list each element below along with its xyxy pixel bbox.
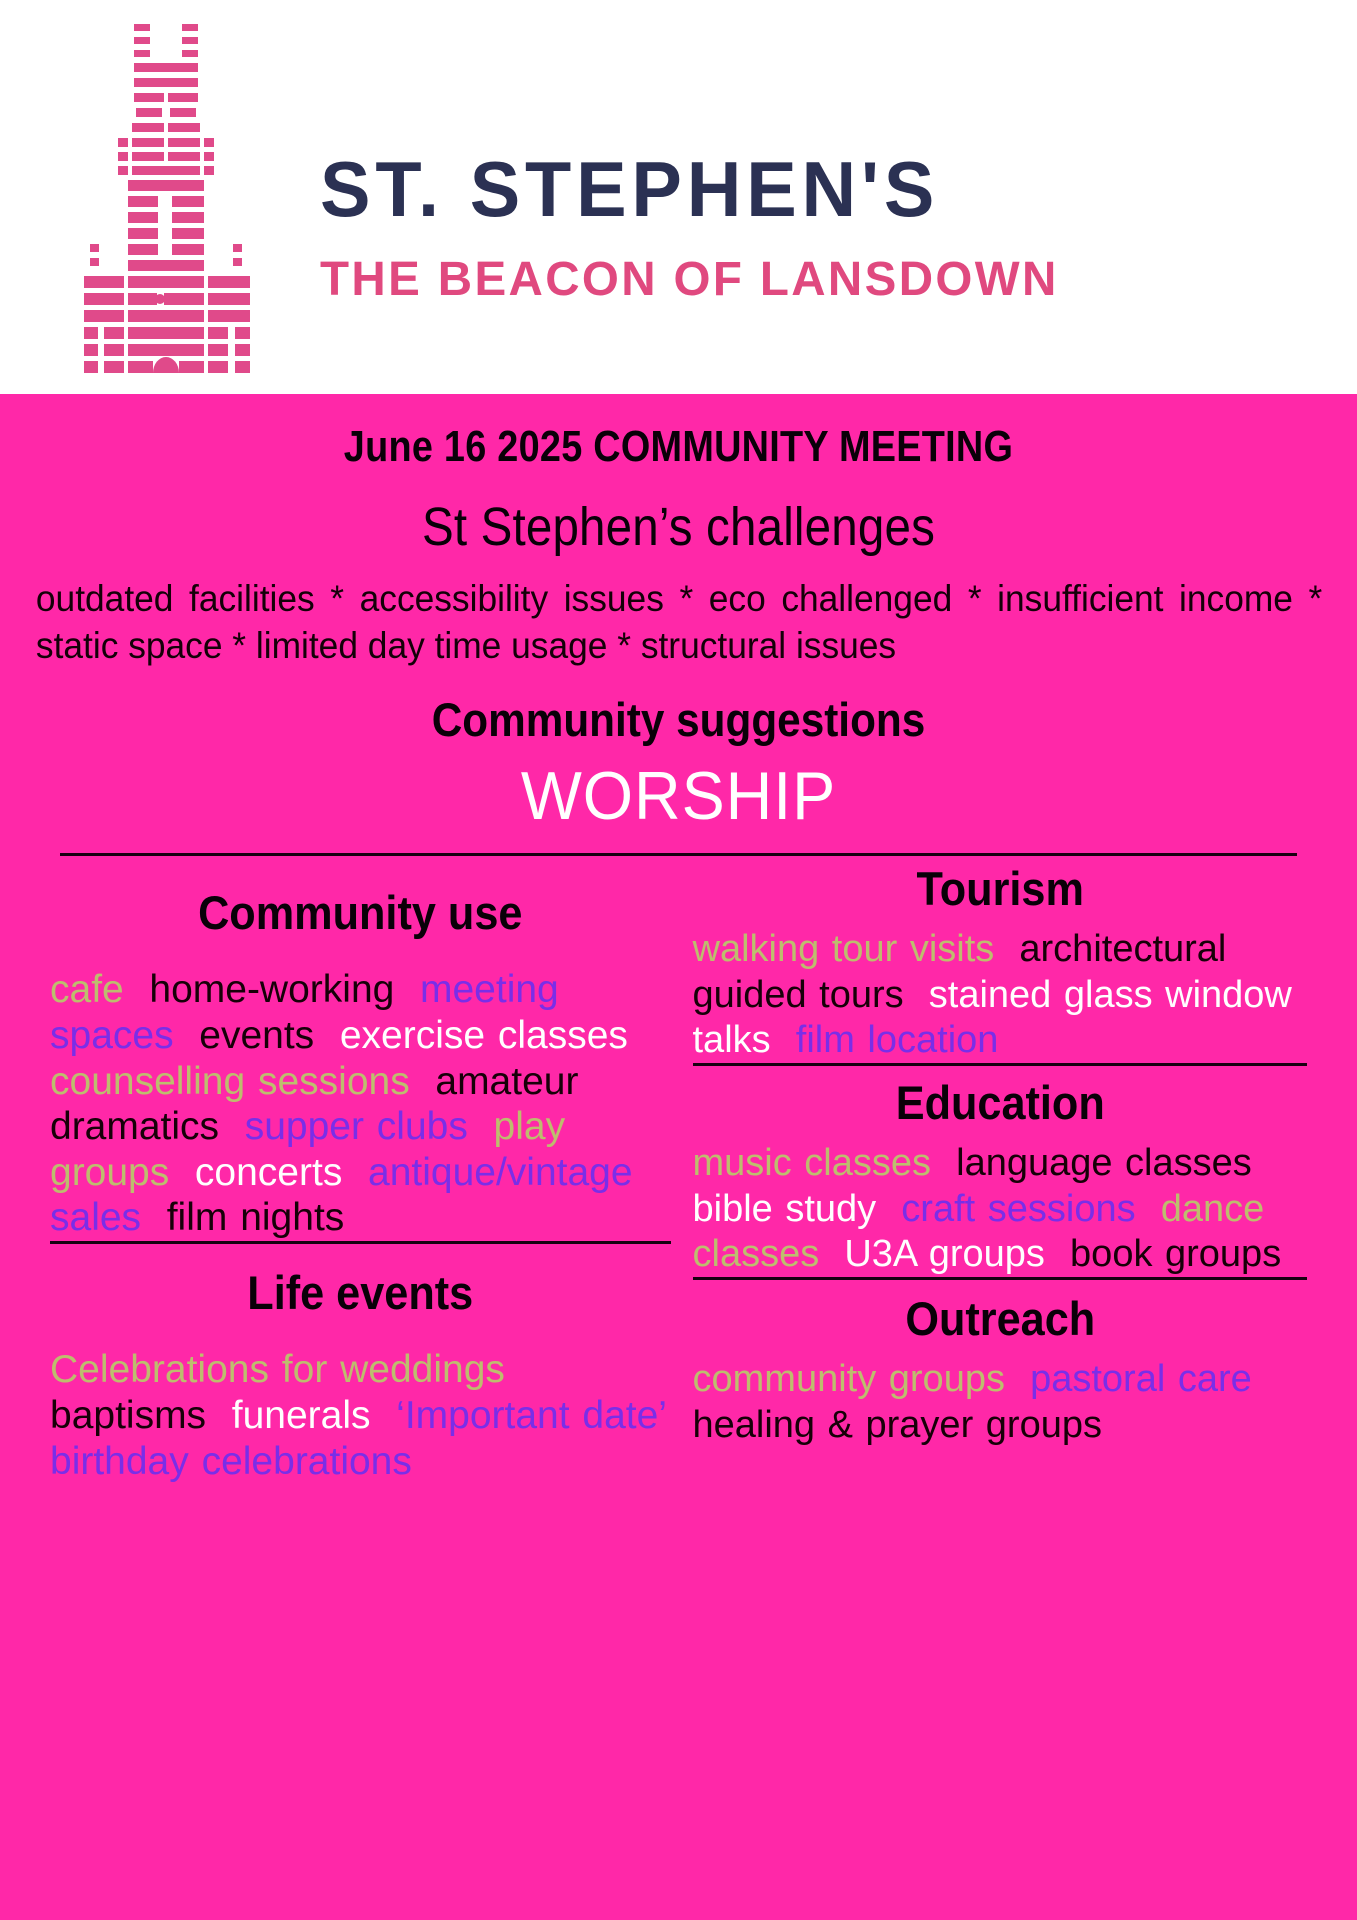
word-chip: cafe [50, 968, 124, 1011]
word-chip: pastoral care [1030, 1358, 1252, 1400]
suggestions-title: Community suggestions [98, 692, 1258, 747]
word-list-community-use: cafe home-working meeting spaces events … [50, 967, 671, 1241]
church-tower-icon [78, 18, 256, 378]
word-chip: home-working [149, 968, 394, 1011]
word-chip: walking tour visits [693, 928, 995, 970]
divider-top [60, 853, 1297, 856]
divider-left [50, 1241, 671, 1244]
word-chip: language classes [956, 1142, 1252, 1184]
word-list-education: music classes language classes bible stu… [693, 1141, 1308, 1277]
word-chip: bible study [693, 1188, 877, 1230]
challenges-body: outdated facilities * accessibility issu… [34, 576, 1324, 670]
brand-title: ST. STEPHEN'S [320, 150, 1300, 228]
divider-right-1 [693, 1063, 1308, 1066]
word-chip: film location [796, 1019, 999, 1061]
word-chip: music classes [693, 1142, 932, 1184]
worship-heading: WORSHIP [66, 757, 1291, 835]
brand-wordmark: ST. STEPHEN'S THE BEACON OF LANSDOWN [320, 150, 1330, 304]
poster-body: June 16 2025 COMMUNITY MEETING St Stephe… [0, 394, 1357, 1920]
word-chip: Celebrations for weddings [50, 1348, 505, 1391]
word-chip: craft sessions [901, 1188, 1135, 1230]
word-chip: exercise classes [340, 1014, 628, 1057]
columns-wrapper: Community use cafe home-working meeting … [34, 864, 1323, 1484]
word-chip: funerals [232, 1394, 371, 1437]
divider-right-2 [693, 1277, 1308, 1280]
section-heading-community-use: Community use [75, 888, 646, 937]
left-column: Community use cafe home-working meeting … [34, 864, 679, 1484]
word-chip: film nights [167, 1196, 345, 1239]
word-list-life-events: Celebrations for weddings baptisms funer… [50, 1347, 671, 1484]
word-chip: healing & prayer groups [693, 1404, 1102, 1446]
word-chip: counselling sessions [50, 1060, 410, 1103]
section-heading-outreach: Outreach [717, 1294, 1282, 1343]
challenges-title: St Stephen’s challenges [111, 496, 1245, 558]
section-heading-education: Education [717, 1078, 1282, 1127]
word-chip: supper clubs [245, 1105, 468, 1148]
right-column: Tourism walking tour visits architectura… [679, 864, 1324, 1484]
word-chip: events [199, 1014, 314, 1057]
section-heading-tourism: Tourism [717, 864, 1282, 913]
word-list-outreach: community groups pastoral care healing &… [693, 1357, 1308, 1447]
section-heading-life-events: Life events [75, 1268, 646, 1317]
word-chip: U3A groups [844, 1233, 1045, 1275]
word-list-tourism: walking tour visits architectural guided… [693, 927, 1308, 1063]
meeting-headline: June 16 2025 COMMUNITY MEETING [124, 422, 1233, 472]
word-chip: book groups [1070, 1233, 1281, 1275]
word-chip: community groups [693, 1358, 1005, 1400]
brand-subtitle: THE BEACON OF LANSDOWN [320, 256, 1320, 304]
word-chip: baptisms [50, 1394, 206, 1437]
site-header: ST. STEPHEN'S THE BEACON OF LANSDOWN [0, 0, 1357, 394]
word-chip: concerts [195, 1151, 342, 1194]
